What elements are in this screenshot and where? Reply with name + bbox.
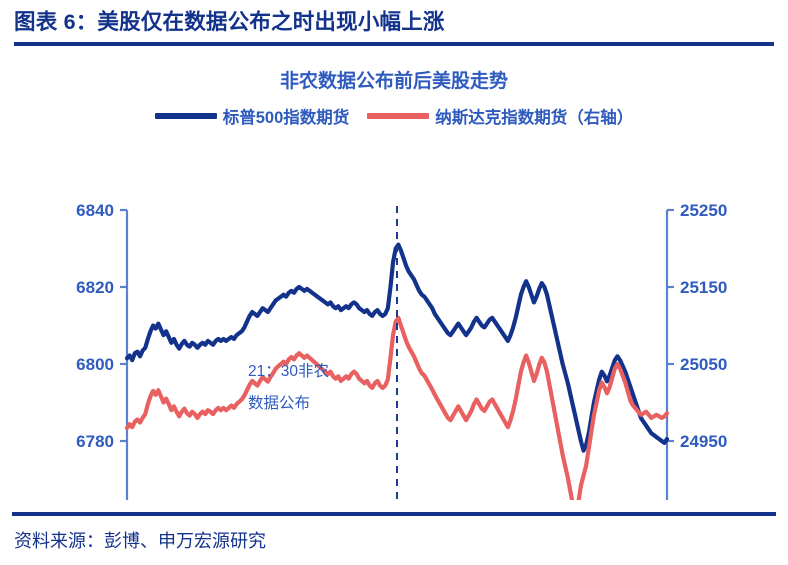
legend-swatch-nasdaq <box>367 113 429 119</box>
plot-svg: 6760678068006820684024850249502505025150… <box>0 140 788 500</box>
chart-title: 非农数据公布前后美股走势 <box>0 66 788 93</box>
header-divider <box>14 42 774 46</box>
y-axis-left-tick-label: 6820 <box>76 278 114 297</box>
y-axis-right-tick-label: 25050 <box>680 355 727 374</box>
legend-swatch-sp500 <box>155 113 217 119</box>
footer-divider <box>12 512 776 516</box>
legend-label-sp500: 标普500指数期货 <box>223 104 350 128</box>
figure-header: 图表 6：美股仅在数据公布之时出现小幅上涨 <box>0 0 788 52</box>
chart-annotation-line: 21：30非农 <box>248 362 329 380</box>
legend-item-sp500: 标普500指数期货 <box>155 104 350 128</box>
y-axis-right-tick-label: 25250 <box>680 201 727 220</box>
page-title: 图表 6：美股仅在数据公布之时出现小幅上涨 <box>14 5 445 36</box>
legend-label-nasdaq: 纳斯达克指数期货（右轴） <box>435 104 633 128</box>
chart-legend: 标普500指数期货 纳斯达克指数期货（右轴） <box>0 104 788 128</box>
plot-area: 6760678068006820684024850249502505025150… <box>0 140 788 500</box>
chart-region: 非农数据公布前后美股走势 标普500指数期货 纳斯达克指数期货（右轴） 6760… <box>0 52 788 507</box>
y-axis-left-tick-label: 6800 <box>76 355 114 374</box>
chart-annotation-line: 数据公布 <box>248 394 310 412</box>
figure-footer: 资料来源：彭博、申万宏源研究 <box>0 507 788 565</box>
source-note: 资料来源：彭博、申万宏源研究 <box>14 527 266 553</box>
y-axis-right-tick-label: 25150 <box>680 278 727 297</box>
y-axis-right-tick-label: 24950 <box>680 432 727 451</box>
y-axis-left-tick-label: 6840 <box>76 201 114 220</box>
y-axis-left-tick-label: 6780 <box>76 432 114 451</box>
legend-item-nasdaq: 纳斯达克指数期货（右轴） <box>367 104 633 128</box>
